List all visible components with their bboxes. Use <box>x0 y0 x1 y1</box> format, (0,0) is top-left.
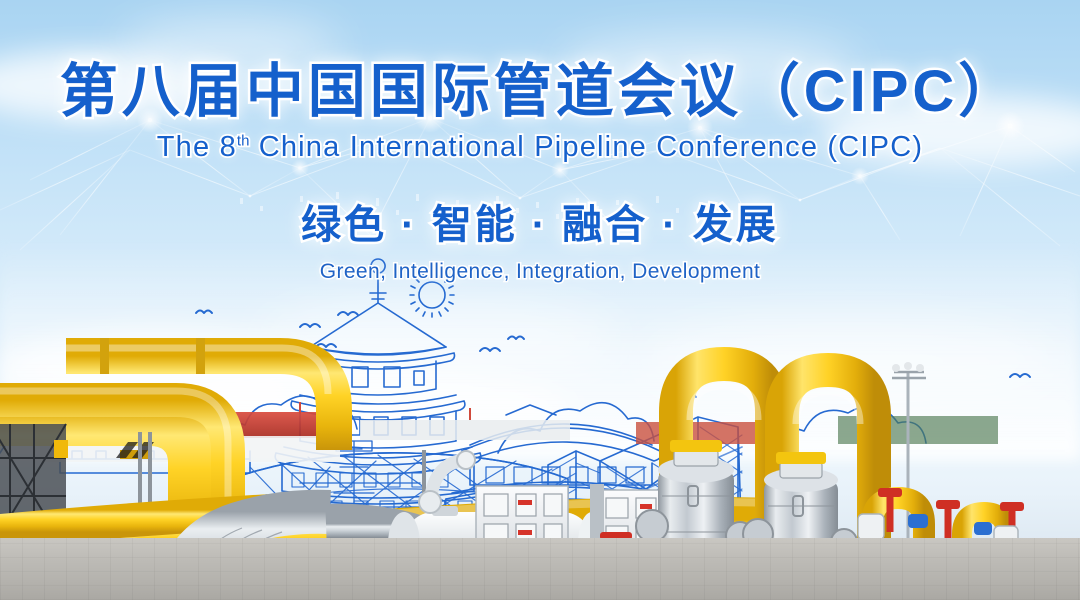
slogan-english: Green, Intelligence, Integration, Develo… <box>0 260 1080 284</box>
page-title-english: The 8th China International Pipeline Con… <box>0 131 1080 164</box>
page-title-chinese: 第八届中国国际管道会议（CIPC） <box>0 62 1080 123</box>
title-en-prefix: The 8 <box>157 131 237 163</box>
title-en-ordinal-suffix: th <box>237 132 250 149</box>
ground-strip <box>0 538 1080 600</box>
banner-text-block: 第八届中国国际管道会议（CIPC） The 8th China Internat… <box>0 0 1080 284</box>
slogan-chinese: 绿色 · 智能 · 融合 · 发展 <box>0 192 1080 250</box>
conference-banner: 第八届中国国际管道会议（CIPC） The 8th China Internat… <box>0 0 1080 600</box>
title-en-rest: China International Pipeline Conference … <box>249 131 923 163</box>
